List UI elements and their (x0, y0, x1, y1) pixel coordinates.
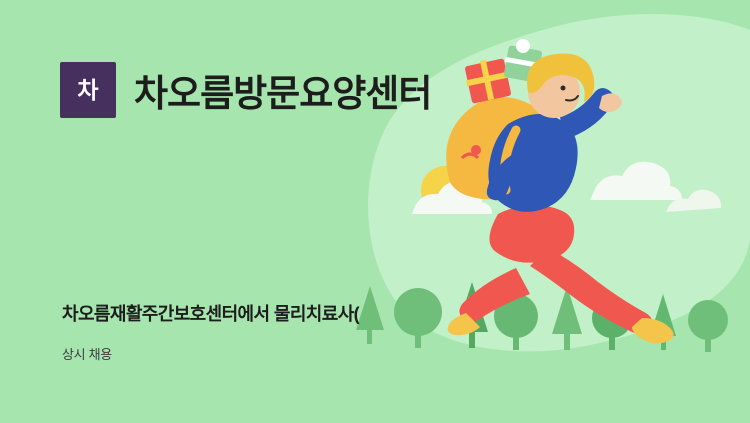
job-posting-banner: 차 차오름방문요양센터 차오름재활주간보호센터에서 물리치료사( 상시 채용 (0, 0, 750, 423)
posting-text-block: 차오름재활주간보호센터에서 물리치료사( 상시 채용 (62, 300, 359, 363)
brand-header: 차 차오름방문요양센터 (60, 62, 431, 118)
posting-headline: 차오름재활주간보호센터에서 물리치료사( (62, 300, 359, 326)
posting-subline: 상시 채용 (62, 344, 359, 363)
cloud-icon (412, 162, 721, 214)
logo-badge: 차 (60, 62, 116, 118)
shoe-icon (632, 318, 674, 344)
shoe-icon (448, 313, 480, 335)
logo-text: 차 (77, 79, 98, 102)
tree-row (356, 282, 728, 352)
sun-icon (421, 166, 469, 214)
brand-title: 차오름방문요양센터 (134, 63, 431, 117)
gift-backpack (446, 39, 550, 199)
